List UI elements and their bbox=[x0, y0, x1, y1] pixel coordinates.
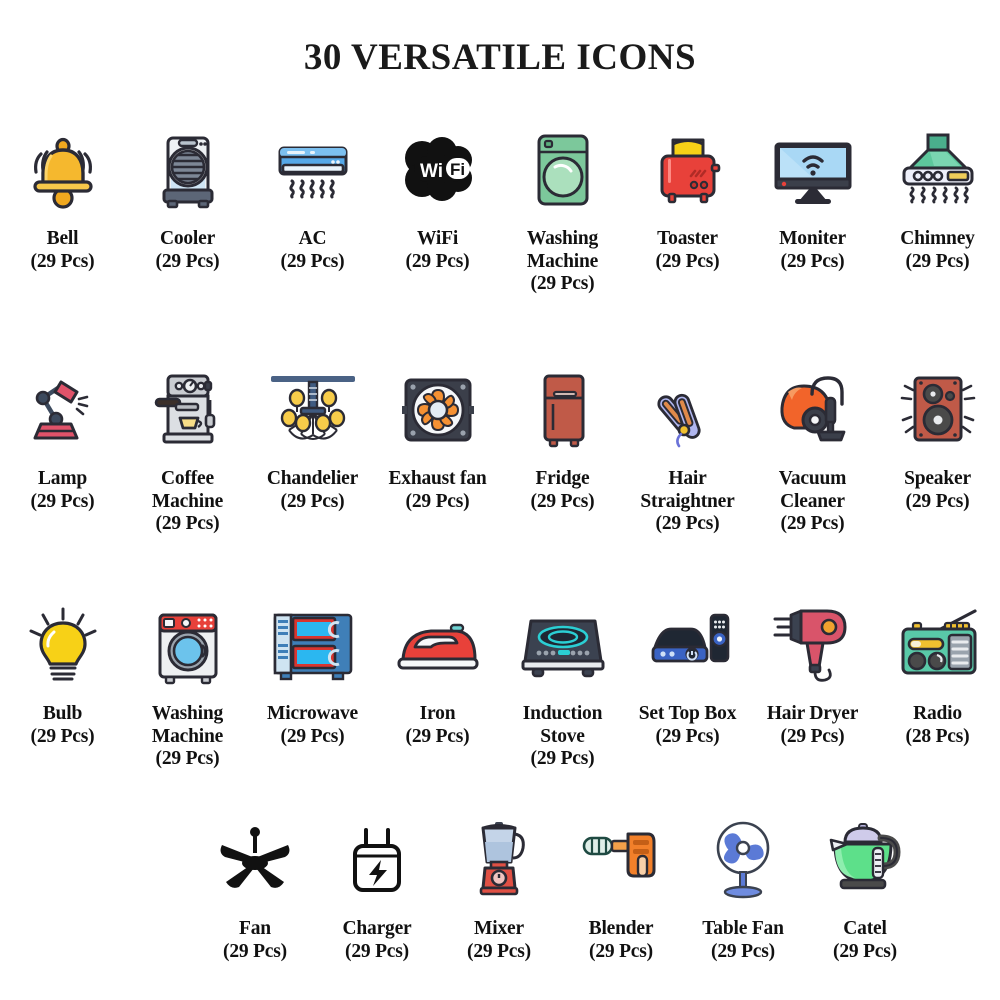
icon-label: Washing Machine bbox=[125, 703, 250, 748]
icon-cell-chimney[interactable]: Chimney (29 Pcs) bbox=[875, 120, 1000, 273]
induction-stove-icon bbox=[513, 595, 613, 695]
kettle-icon bbox=[815, 810, 915, 910]
cooler-icon bbox=[138, 120, 238, 220]
icon-label: Charger bbox=[343, 918, 412, 941]
icon-cell-washing-machine-2[interactable]: Washing Machine (29 Pcs) bbox=[125, 595, 250, 771]
icon-count: (29 Pcs) bbox=[156, 513, 220, 536]
toaster-icon bbox=[638, 120, 738, 220]
hair-straightener-icon bbox=[638, 360, 738, 460]
icon-cell-radio[interactable]: Radio (28 Pcs) bbox=[875, 595, 1000, 748]
icon-label: Bulb bbox=[43, 703, 82, 726]
icon-cell-bulb[interactable]: Bulb (29 Pcs) bbox=[0, 595, 125, 748]
mixer-icon bbox=[449, 810, 549, 910]
svg-text:Wi: Wi bbox=[420, 161, 443, 182]
ceiling-fan-icon bbox=[205, 810, 305, 910]
wifi-icon: Wi Fi bbox=[388, 120, 488, 220]
icon-cell-cooler[interactable]: Cooler (29 Pcs) bbox=[125, 120, 250, 273]
icon-cell-hair-straightener[interactable]: Hair Straightner (29 Pcs) bbox=[625, 360, 750, 536]
icon-grid: Bell (29 Pcs) bbox=[0, 120, 1000, 995]
table-fan-icon bbox=[693, 810, 793, 910]
icon-count: (29 Pcs) bbox=[531, 748, 595, 771]
icon-label: Cooler bbox=[160, 228, 215, 251]
icon-count: (29 Pcs) bbox=[223, 941, 287, 964]
icon-count: (29 Pcs) bbox=[406, 726, 470, 749]
fridge-icon bbox=[513, 360, 613, 460]
icon-label: Blender bbox=[589, 918, 654, 941]
icon-cell-kettle[interactable]: Catel (29 Pcs) bbox=[804, 810, 926, 963]
icon-count: (29 Pcs) bbox=[156, 748, 220, 771]
bulb-icon bbox=[13, 595, 113, 695]
monitor-icon bbox=[763, 120, 863, 220]
svg-text:Fi: Fi bbox=[450, 160, 465, 179]
icon-count: (29 Pcs) bbox=[781, 513, 845, 536]
icon-cell-vacuum-cleaner[interactable]: Vacuum Cleaner (29 Pcs) bbox=[750, 360, 875, 536]
washing-machine-2-icon bbox=[138, 595, 238, 695]
icon-count: (29 Pcs) bbox=[833, 941, 897, 964]
icon-count: (29 Pcs) bbox=[711, 941, 775, 964]
icon-cell-charger[interactable]: Charger (29 Pcs) bbox=[316, 810, 438, 963]
icon-cell-ac[interactable]: AC (29 Pcs) bbox=[250, 120, 375, 273]
desk-lamp-icon bbox=[13, 360, 113, 460]
icon-label: Moniter bbox=[779, 228, 846, 251]
chandelier-icon bbox=[263, 360, 363, 460]
bell-icon bbox=[13, 120, 113, 220]
icon-label: Hair Dryer bbox=[767, 703, 858, 726]
vacuum-cleaner-icon bbox=[763, 360, 863, 460]
icon-cell-wifi[interactable]: Wi Fi WiFi (29 Pcs) bbox=[375, 120, 500, 273]
icon-cell-coffee-machine[interactable]: Coffee Machine (29 Pcs) bbox=[125, 360, 250, 536]
iron-icon bbox=[388, 595, 488, 695]
icon-label: Table Fan bbox=[702, 918, 783, 941]
icon-label: Toaster bbox=[657, 228, 718, 251]
icon-label: Hair Straightner bbox=[625, 468, 750, 513]
icon-row-3: Bulb (29 Pcs) bbox=[0, 595, 1000, 810]
coffee-machine-icon bbox=[138, 360, 238, 460]
icon-count: (29 Pcs) bbox=[781, 251, 845, 274]
icon-count: (29 Pcs) bbox=[467, 941, 531, 964]
icon-cell-table-fan[interactable]: Table Fan (29 Pcs) bbox=[682, 810, 804, 963]
radio-icon bbox=[888, 595, 988, 695]
icon-row-4: Fan (29 Pcs) Charger (29 P bbox=[0, 810, 1000, 995]
icon-label: Mixer bbox=[474, 918, 524, 941]
icon-cell-exhaust-fan[interactable]: Exhaust fan (29 Pcs) bbox=[375, 360, 500, 513]
icon-count: (29 Pcs) bbox=[906, 491, 970, 514]
icon-label: Fan bbox=[239, 918, 271, 941]
icon-label: Washing Machine bbox=[500, 228, 625, 273]
icon-cell-mixer[interactable]: Mixer (29 Pcs) bbox=[438, 810, 560, 963]
icon-count: (29 Pcs) bbox=[781, 726, 845, 749]
icon-label: Chandelier bbox=[267, 468, 358, 491]
icon-count: (29 Pcs) bbox=[531, 273, 595, 296]
icon-label: Catel bbox=[843, 918, 886, 941]
icon-cell-iron[interactable]: Iron (29 Pcs) bbox=[375, 595, 500, 748]
icon-label: Microwave bbox=[267, 703, 358, 726]
icon-count: (29 Pcs) bbox=[656, 251, 720, 274]
icon-label: Fridge bbox=[535, 468, 589, 491]
icon-label: Bell bbox=[47, 228, 79, 251]
hair-dryer-icon bbox=[763, 595, 863, 695]
icon-count: (29 Pcs) bbox=[531, 491, 595, 514]
icon-count: (29 Pcs) bbox=[656, 726, 720, 749]
icon-count: (29 Pcs) bbox=[156, 251, 220, 274]
page-title: 30 VERSATILE ICONS bbox=[0, 0, 1000, 79]
icon-cell-lamp[interactable]: Lamp (29 Pcs) bbox=[0, 360, 125, 513]
icon-cell-set-top-box[interactable]: Set Top Box (29 Pcs) bbox=[625, 595, 750, 748]
icon-label: Radio bbox=[913, 703, 962, 726]
icon-count: (29 Pcs) bbox=[31, 491, 95, 514]
icon-row-1: Bell (29 Pcs) bbox=[0, 120, 1000, 360]
icon-label: Vacuum Cleaner bbox=[750, 468, 875, 513]
icon-label: Lamp bbox=[38, 468, 87, 491]
chimney-icon bbox=[888, 120, 988, 220]
icon-cell-monitor[interactable]: Moniter (29 Pcs) bbox=[750, 120, 875, 273]
icon-label: Iron bbox=[420, 703, 456, 726]
microwave-icon bbox=[263, 595, 363, 695]
set-top-box-icon bbox=[638, 595, 738, 695]
ac-icon bbox=[263, 120, 363, 220]
icon-cell-toaster[interactable]: Toaster (29 Pcs) bbox=[625, 120, 750, 273]
blender-icon bbox=[571, 810, 671, 910]
washing-machine-icon bbox=[513, 120, 613, 220]
icon-count: (29 Pcs) bbox=[906, 251, 970, 274]
icon-cell-blender[interactable]: Blender (29 Pcs) bbox=[560, 810, 682, 963]
icon-count: (29 Pcs) bbox=[656, 513, 720, 536]
icon-cell-fan[interactable]: Fan (29 Pcs) bbox=[194, 810, 316, 963]
speaker-icon bbox=[888, 360, 988, 460]
icon-count: (29 Pcs) bbox=[406, 251, 470, 274]
exhaust-fan-icon bbox=[388, 360, 488, 460]
icon-count: (29 Pcs) bbox=[589, 941, 653, 964]
icon-cell-chandelier[interactable]: Chandelier (29 Pcs) bbox=[250, 360, 375, 513]
icon-count: (29 Pcs) bbox=[406, 491, 470, 514]
icon-count: (29 Pcs) bbox=[345, 941, 409, 964]
icon-label: WiFi bbox=[417, 228, 458, 251]
icon-label: Speaker bbox=[904, 468, 971, 491]
icon-set-page: 30 VERSATILE ICONS bbox=[0, 0, 1000, 1000]
icon-label: AC bbox=[299, 228, 327, 251]
icon-cell-bell[interactable]: Bell (29 Pcs) bbox=[0, 120, 125, 273]
icon-row-2: Lamp (29 Pcs) bbox=[0, 360, 1000, 595]
icon-count: (29 Pcs) bbox=[31, 726, 95, 749]
icon-count: (29 Pcs) bbox=[31, 251, 95, 274]
icon-cell-fridge[interactable]: Fridge (29 Pcs) bbox=[500, 360, 625, 513]
icon-cell-induction-stove[interactable]: Induction Stove (29 Pcs) bbox=[500, 595, 625, 771]
icon-label: Chimney bbox=[900, 228, 974, 251]
icon-count: (28 Pcs) bbox=[906, 726, 970, 749]
icon-cell-speaker[interactable]: Speaker (29 Pcs) bbox=[875, 360, 1000, 513]
icon-count: (29 Pcs) bbox=[281, 491, 345, 514]
icon-label: Induction Stove bbox=[500, 703, 625, 748]
icon-label: Coffee Machine bbox=[125, 468, 250, 513]
icon-label: Set Top Box bbox=[639, 703, 737, 726]
icon-label: Exhaust fan bbox=[388, 468, 486, 491]
icon-count: (29 Pcs) bbox=[281, 251, 345, 274]
icon-count: (29 Pcs) bbox=[281, 726, 345, 749]
charger-icon bbox=[327, 810, 427, 910]
icon-cell-washing-machine[interactable]: Washing Machine (29 Pcs) bbox=[500, 120, 625, 296]
icon-cell-microwave[interactable]: Microwave (29 Pcs) bbox=[250, 595, 375, 748]
icon-cell-hair-dryer[interactable]: Hair Dryer (29 Pcs) bbox=[750, 595, 875, 748]
